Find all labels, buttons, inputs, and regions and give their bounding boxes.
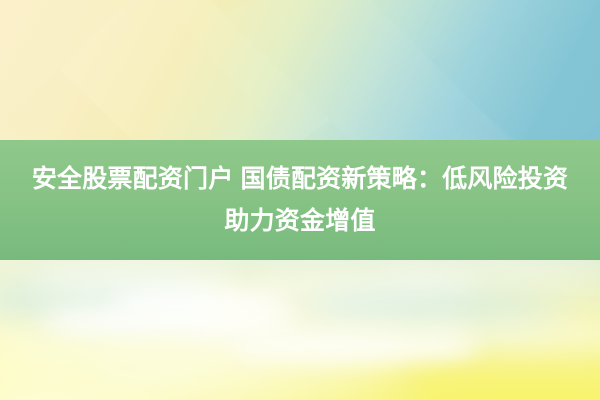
banner-title: 安全股票配资门户 国债配资新策略：低风险投资 助力资金增值 [4, 158, 596, 242]
promo-banner: 安全股票配资门户 国债配资新策略：低风险投资 助力资金增值 [0, 0, 600, 400]
title-band: 安全股票配资门户 国债配资新策略：低风险投资 助力资金增值 [0, 140, 600, 260]
cloud-layer [0, 255, 600, 400]
